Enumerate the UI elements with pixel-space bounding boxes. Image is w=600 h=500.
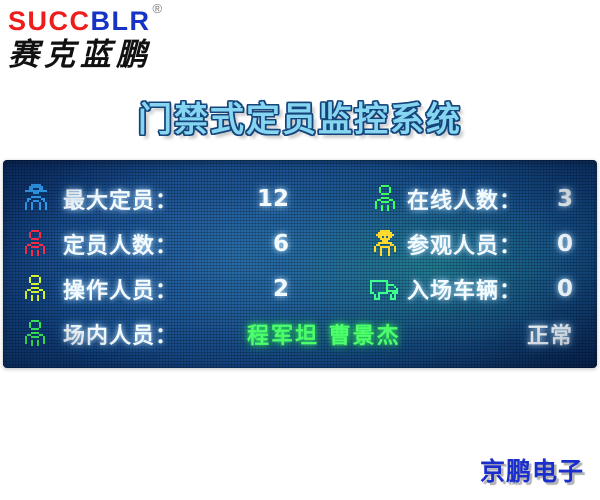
led-row-icon-visitor-count <box>363 230 407 258</box>
logo-chinese-name: 赛克蓝鹏 <box>8 39 218 72</box>
registered-trademark-icon: ® <box>153 1 164 16</box>
page-title: 门禁式定员监控系统 <box>0 92 600 141</box>
led-row-icon-operator-count <box>23 267 63 312</box>
person-icon <box>23 320 47 348</box>
value-visitor-count: 0 <box>557 231 589 257</box>
label-online-count: 在线人数： <box>407 183 557 215</box>
status-badge: 正常 <box>479 318 589 350</box>
person-icon <box>23 230 47 258</box>
led-row-staff-count: 定员人数： 6 <box>63 222 589 267</box>
led-row-onsite-personnel: 场内人员： 程军坦 曹景杰 正常 <box>63 311 589 356</box>
led-content-grid: 最大定员： 12 <box>3 160 597 368</box>
logo-wordmark-succ: SUCC <box>8 6 91 36</box>
logo-wordmark: SUCCBLR® <box>8 8 218 35</box>
footer-brand: 京鹏电子 <box>480 452 584 488</box>
value-operator-count: 2 <box>211 276 289 302</box>
led-row-right-half: 参观人员： 0 <box>363 228 589 260</box>
person-icon <box>373 185 397 213</box>
led-row-icon-vehicle-count <box>363 278 407 300</box>
label-operator-count: 操作人员： <box>63 273 211 305</box>
label-max-capacity: 最大定员： <box>63 183 211 215</box>
person-cap-icon <box>23 184 49 214</box>
label-visitor-count: 参观人员： <box>407 228 557 260</box>
truck-icon <box>370 278 400 300</box>
led-row-icon-onsite-personnel <box>23 311 63 356</box>
led-row-left-half: 定员人数： 6 <box>63 228 363 260</box>
led-row-right-half: 在线人数： 3 <box>363 183 589 215</box>
value-online-count: 3 <box>557 186 589 212</box>
led-row-icon-max-capacity <box>23 177 63 222</box>
led-display-panel: 最大定员： 12 <box>3 160 597 368</box>
value-staff-count: 6 <box>211 231 289 257</box>
led-row-left-half: 操作人员： 2 <box>63 273 363 305</box>
value-max-capacity: 12 <box>211 186 289 212</box>
label-vehicle-count: 入场车辆： <box>407 273 557 305</box>
led-row-left-half: 最大定员： 12 <box>63 183 363 215</box>
company-logo: SUCCBLR® 赛克蓝鹏 <box>8 8 218 72</box>
value-vehicle-count: 0 <box>557 276 589 302</box>
onsite-personnel-names: 程军坦 曹景杰 <box>211 318 479 350</box>
label-staff-count: 定员人数： <box>63 228 211 260</box>
led-row-operator-count: 操作人员： 2 <box>63 267 589 312</box>
person-icon <box>23 275 47 303</box>
led-row-icon-staff-count <box>23 222 63 267</box>
label-onsite-personnel: 场内人员： <box>63 318 211 350</box>
person-helmet-icon <box>372 230 398 258</box>
led-row-max-capacity: 最大定员： 12 <box>63 177 589 222</box>
led-row-right-half: 入场车辆： 0 <box>363 273 589 305</box>
led-row-icon-online-count <box>363 185 407 213</box>
logo-wordmark-blr: BLR <box>91 6 151 36</box>
